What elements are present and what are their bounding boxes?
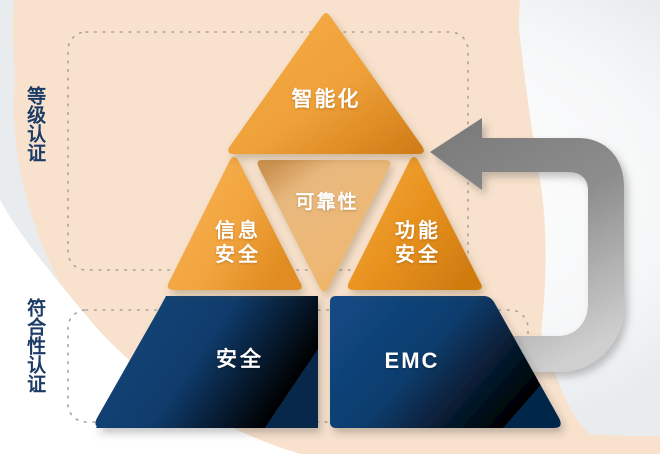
group-label-conformity: 符合性认证 bbox=[24, 298, 44, 393]
tile-label-info-security: 信息 安全 bbox=[186, 220, 290, 267]
tile-label-intelligent: 智能化 bbox=[266, 88, 386, 113]
tile-label-safety: 安全 bbox=[158, 348, 322, 373]
diagram-canvas: 等级认证 符合性认证 智能化 可靠性 信息 安全 功能 安全 安全 EMC bbox=[0, 0, 660, 454]
group-label-grade: 等级认证 bbox=[24, 86, 44, 162]
tile-label-functional-safety: 功能 安全 bbox=[366, 220, 470, 267]
diagram-graphics bbox=[0, 0, 660, 454]
tile-label-reliability: 可靠性 bbox=[268, 192, 386, 214]
tile-label-emc: EMC bbox=[330, 348, 494, 374]
